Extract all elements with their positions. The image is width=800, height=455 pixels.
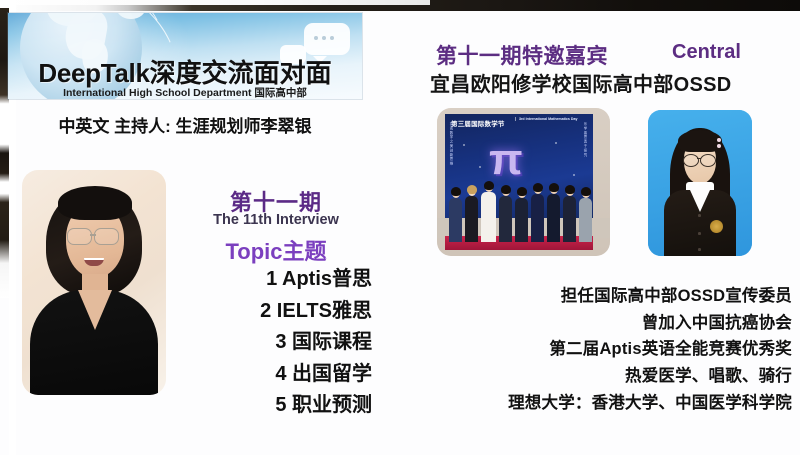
pi-symbol: π xyxy=(489,138,523,182)
screen-edge-top-highlight xyxy=(0,0,430,5)
group-person xyxy=(563,196,576,242)
group-person xyxy=(465,196,478,242)
hair-clip-icon xyxy=(717,138,721,142)
topic-heading: Topic主题 xyxy=(180,234,372,266)
group-person xyxy=(515,198,528,242)
group-person xyxy=(547,194,560,242)
guest-portrait-photo xyxy=(648,110,752,256)
group-person xyxy=(579,198,592,242)
group-person xyxy=(531,194,544,242)
glasses-icon xyxy=(683,154,699,167)
typing-dots-icon xyxy=(314,36,334,40)
group-person xyxy=(449,198,462,242)
deeptalk-banner: DeepTalk深度交流面对面 International High Schoo… xyxy=(8,13,362,99)
list-item: 1 Aptis普思 xyxy=(176,264,372,296)
guest-heading-cn: 第十一期特邀嘉宾 xyxy=(436,40,608,70)
bio-line: 理想大学：香港大学、中国医学科学院 xyxy=(420,390,792,417)
backdrop-side-text-right: 乐学善思勇于探究 xyxy=(583,122,588,157)
bio-line: 担任国际高中部OSSD宣传委员 xyxy=(420,283,792,310)
guest-bio-list: 担任国际高中部OSSD宣传委员 曾加入中国抗癌协会 第二届Aptis英语全能竞赛… xyxy=(420,283,792,417)
glasses-icon xyxy=(67,228,92,245)
host-credit-line: 中英文 主持人: 生涯规划师李翠银 xyxy=(8,112,362,137)
list-item: 2 IELTS雅思 xyxy=(176,296,372,328)
school-badge-icon xyxy=(710,220,723,233)
bio-line: 第二届Aptis英语全能竞赛优秀奖 xyxy=(420,336,792,363)
backdrop-side-text-left: 探索数学之美创新思维 xyxy=(449,122,454,166)
group-person xyxy=(481,192,496,242)
episode-number-en: The 11th Interview xyxy=(180,212,372,228)
group-person xyxy=(499,196,512,242)
banner-title-en: DeepTalk xyxy=(38,58,149,88)
host-portrait-photo xyxy=(22,170,166,395)
guest-school-line: 宜昌欧阳修学校国际高中部OSSD xyxy=(430,68,731,97)
math-festival-banner-en: 3rd International Mathematics Day xyxy=(515,117,578,121)
topic-list: 1 Aptis普思 2 IELTS雅思 3 国际课程 4 出国留学 5 职业预测 xyxy=(176,264,372,422)
list-item: 4 出国留学 xyxy=(176,359,372,391)
bio-line: 热爱医学、唱歌、骑行 xyxy=(420,363,792,390)
list-item: 5 职业预测 xyxy=(176,390,372,422)
banner-title-cn: 深度交流面对面 xyxy=(150,58,332,88)
group-photo: π 第三届国际数学节 3rd International Mathematics… xyxy=(437,108,610,256)
math-festival-banner-cn: 第三届国际数学节 xyxy=(451,118,505,128)
banner-subtitle: International High School Department 国际高… xyxy=(8,85,362,99)
list-item: 3 国际课程 xyxy=(176,327,372,359)
presentation-slide: DeepTalk深度交流面对面 International High Schoo… xyxy=(0,0,800,455)
bio-line: 曾加入中国抗癌协会 xyxy=(420,310,792,337)
guest-heading-en: Central xyxy=(672,41,741,64)
